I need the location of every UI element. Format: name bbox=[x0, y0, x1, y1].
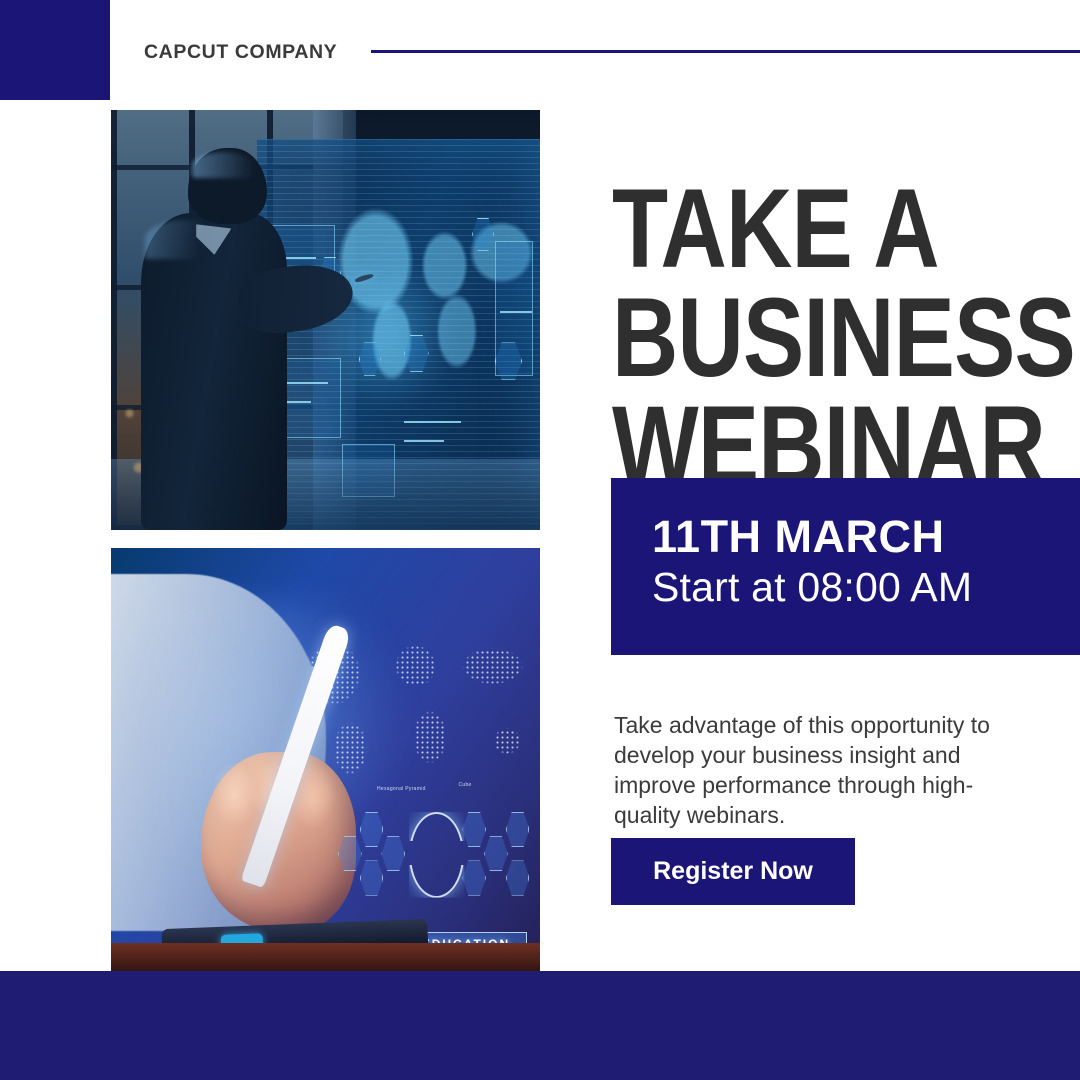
poster-canvas: CAPCUT COMPANY bbox=[0, 0, 1080, 1080]
event-start-time: Start at 08:00 AM bbox=[652, 564, 972, 611]
hexagon-icon bbox=[462, 812, 486, 847]
businessman-silhouette bbox=[137, 148, 334, 530]
wooden-desk bbox=[111, 943, 540, 973]
event-date-banner: 11TH MARCH Start at 08:00 AM bbox=[611, 478, 1080, 655]
hologram-line bbox=[404, 421, 461, 423]
hexagon-icon-cluster bbox=[334, 803, 531, 914]
footer-contact-bar: 123-456-7890 hello@capcut.com www.capcut… bbox=[0, 971, 1080, 1080]
register-now-button[interactable]: Register Now bbox=[611, 838, 855, 905]
page-title: TAKE A BUSINESS WEBINAR bbox=[612, 175, 973, 501]
photo-bottom-inner: Hexagonal Pyramid Cube EDUCATION bbox=[111, 548, 540, 973]
businessman-hair-highlight bbox=[192, 152, 255, 179]
hexagon-icon bbox=[381, 836, 405, 871]
description-text: Take advantage of this opportunity to de… bbox=[614, 711, 1014, 831]
header-divider-rule bbox=[371, 50, 1080, 53]
accent-block-top-left bbox=[0, 0, 110, 100]
hologram-line bbox=[500, 311, 531, 313]
hexagon-icon bbox=[360, 860, 384, 895]
hexagon-icon bbox=[484, 836, 508, 871]
hexagon-icon bbox=[506, 860, 530, 895]
hexagon-center-ring bbox=[409, 812, 464, 898]
photo-top-inner bbox=[111, 110, 540, 530]
hexagon-icon bbox=[506, 812, 530, 847]
hexagon-icon bbox=[338, 836, 362, 871]
map-annotation-cube: Cube bbox=[458, 782, 471, 788]
map-annotation-hexagonal-pyramid: Hexagonal Pyramid bbox=[377, 786, 426, 792]
photo-stylus-tablet: Hexagonal Pyramid Cube EDUCATION bbox=[111, 548, 540, 973]
businessman-torso bbox=[141, 213, 287, 530]
hologram-line bbox=[404, 440, 444, 442]
hexagon-icon bbox=[462, 860, 486, 895]
event-date: 11TH MARCH bbox=[652, 511, 945, 563]
hexagon-icon bbox=[360, 812, 384, 847]
brand-name: CAPCUT COMPANY bbox=[144, 41, 337, 64]
photo-businessman-dashboard bbox=[111, 110, 540, 530]
